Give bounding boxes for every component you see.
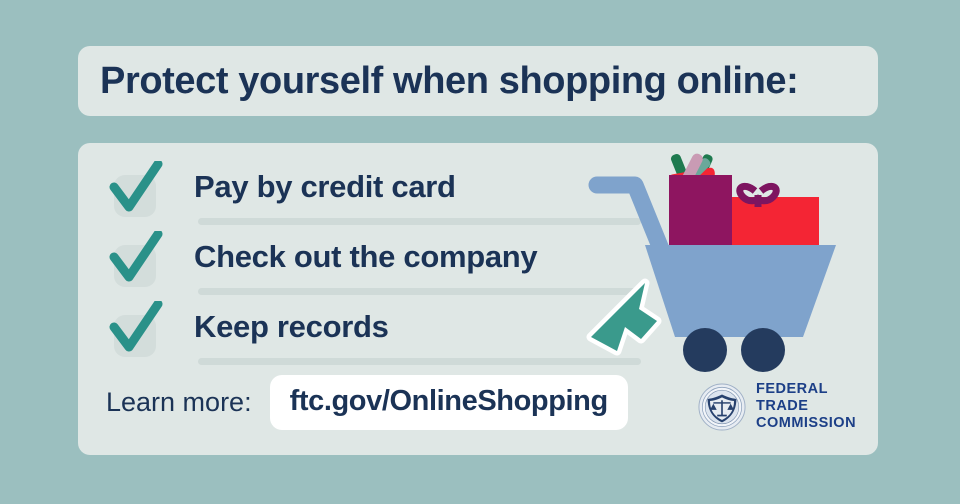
row-divider (198, 358, 641, 365)
title-card: Protect yourself when shopping online: (78, 46, 878, 116)
checklist: Pay by credit card Check out the company… (106, 161, 651, 371)
learn-more-label: Learn more: (106, 387, 252, 418)
checkmark-icon (108, 161, 164, 219)
cart-basket (645, 245, 836, 337)
checkmark-icon (108, 301, 164, 359)
ftc-wordmark: FEDERAL TRADE COMMISSION (756, 381, 878, 432)
cart-handle (597, 185, 661, 249)
row-divider (198, 218, 641, 225)
main-card: Pay by credit card Check out the company… (78, 143, 878, 455)
row-divider (198, 288, 641, 295)
ftc-logo: FEDERAL TRADE COMMISSION (698, 381, 878, 432)
cart-wheel (741, 328, 785, 372)
ftc-wordmark-line1: FEDERAL TRADE (756, 381, 878, 415)
shopping-cart-illustration (583, 145, 858, 380)
infographic-root: Protect yourself when shopping online: P… (0, 0, 960, 504)
list-item-label: Check out the company (194, 239, 537, 275)
learn-more-row: Learn more: ftc.gov/OnlineShopping (106, 375, 628, 430)
cursor-arrow-icon (591, 283, 657, 351)
url-pill[interactable]: ftc.gov/OnlineShopping (270, 375, 628, 430)
ftc-wordmark-line2: COMMISSION (756, 415, 878, 432)
list-item-label: Pay by credit card (194, 169, 456, 205)
ftc-seal-icon (698, 383, 746, 431)
list-item: Pay by credit card (106, 161, 651, 231)
checkmark-icon (108, 231, 164, 289)
cart-wheel (683, 328, 727, 372)
url-link[interactable]: ftc.gov/OnlineShopping (290, 385, 608, 418)
page-title: Protect yourself when shopping online: (100, 60, 798, 103)
list-item-label: Keep records (194, 309, 389, 345)
gift-box-purple (669, 175, 732, 247)
gift-box-red (722, 197, 819, 247)
list-item: Check out the company (106, 231, 651, 301)
list-item: Keep records (106, 301, 651, 371)
